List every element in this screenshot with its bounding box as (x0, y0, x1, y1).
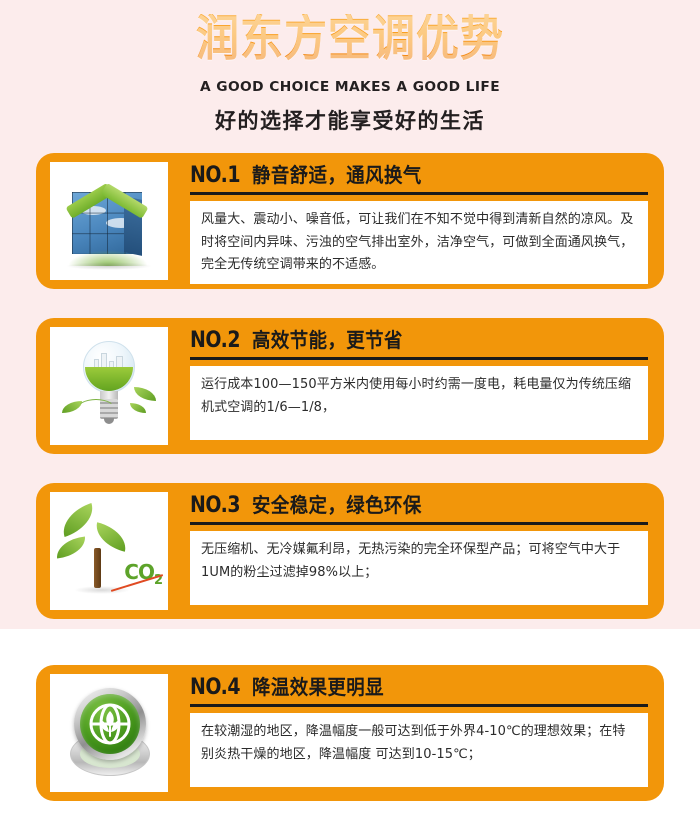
leaf-shape (134, 387, 156, 401)
advantage-card[interactable]: 环保节能灯泡 NO.2 高效节能，更节省 运行成本100—150平方米内使用每小… (36, 318, 664, 454)
sapling-co2-icon: CO2 (50, 492, 168, 610)
advantage-card[interactable]: 绿色地球环保徽章 NO.4 降温效果更明显 在较潮湿的地区，降温幅度一般可达到低… (36, 665, 664, 801)
card-description: 无压缩机、无冷媒氟利昂，无热污染的完全环保型产品；可将空气中大于1UM的粉尘过滤… (190, 531, 648, 605)
heading-divider (190, 522, 648, 525)
card-body: NO.2 高效节能，更节省 运行成本100—150平方米内使用每小时约需一度电，… (190, 318, 648, 440)
card-body: NO.3 安全稳定，绿色环保 无压缩机、无冷媒氟利昂，无热污染的完全环保型产品；… (190, 483, 648, 605)
globe-leaf-glyph (88, 702, 132, 746)
card-number: NO.3 (190, 495, 240, 517)
card-title: 静音舒适，通风换气 (252, 165, 422, 185)
card-thumbnail: 绿色屋顶玻璃房屋 (50, 162, 168, 280)
card-thumbnail: CO2 树苗与减排CO2 (50, 492, 168, 610)
page-title: 润东方空调优势 (196, 14, 504, 65)
tagline-english: A GOOD CHOICE MAKES A GOOD LIFE (0, 79, 700, 95)
vine-curl (76, 399, 116, 421)
card-number: NO.2 (190, 330, 240, 352)
card-title: 安全稳定，绿色环保 (252, 495, 422, 515)
card-heading: NO.2 高效节能，更节省 (190, 330, 648, 352)
card-description: 运行成本100—150平方米内使用每小时约需一度电，耗电量仅为传统压缩机式空调的… (190, 366, 648, 440)
card-body: NO.4 降温效果更明显 在较潮湿的地区，降温幅度一般可达到低于外界4-10℃的… (190, 665, 648, 787)
heading-divider (190, 704, 648, 707)
heading-divider (190, 192, 648, 195)
card-thumbnail: 绿色地球环保徽章 (50, 674, 168, 792)
eco-lightbulb-icon (50, 327, 168, 445)
card-description: 风量大、震动小、噪音低，可让我们在不知不觉中得到清新自然的凉风。及时将空间内异味… (190, 201, 648, 284)
ground-shadow (66, 262, 152, 270)
card-thumbnail: 环保节能灯泡 (50, 327, 168, 445)
card-heading: NO.4 降温效果更明显 (190, 677, 648, 699)
card-number: NO.4 (190, 677, 240, 699)
card-body: NO.1 静音舒适，通风换气 风量大、震动小、噪音低，可让我们在不知不觉中得到清… (190, 153, 648, 284)
eco-globe-badge-icon (50, 674, 168, 792)
leaf-shape (130, 403, 146, 413)
card-number: NO.1 (190, 165, 240, 187)
subtitle-chinese: 好的选择才能享受好的生活 (0, 105, 700, 135)
tree-trunk (94, 548, 101, 588)
page-header: 润东方空调优势 A GOOD CHOICE MAKES A GOOD LIFE … (0, 0, 700, 135)
leaf-shape (57, 503, 99, 537)
advantage-card[interactable]: CO2 树苗与减排CO2 NO.3 安全稳定，绿色环保 无压缩机、无冷媒氟利昂，… (36, 483, 664, 619)
advantage-card[interactable]: 绿色屋顶玻璃房屋 NO.1 静音舒适，通风换气 风量大、震动小、噪音低，可让我们… (36, 153, 664, 289)
card-description: 在较潮湿的地区，降温幅度一般可达到低于外界4-10℃的理想效果；在特别炎热干燥的… (190, 713, 648, 787)
green-roof-glass-house-icon (50, 162, 168, 280)
card-heading: NO.1 静音舒适，通风换气 (190, 165, 648, 187)
leaf-shape (55, 537, 87, 559)
heading-divider (190, 357, 648, 360)
card-title: 高效节能，更节省 (252, 330, 403, 350)
card-title: 降温效果更明显 (252, 677, 384, 697)
promo-page: 润东方空调优势 A GOOD CHOICE MAKES A GOOD LIFE … (0, 0, 700, 829)
card-heading: NO.3 安全稳定，绿色环保 (190, 495, 648, 517)
